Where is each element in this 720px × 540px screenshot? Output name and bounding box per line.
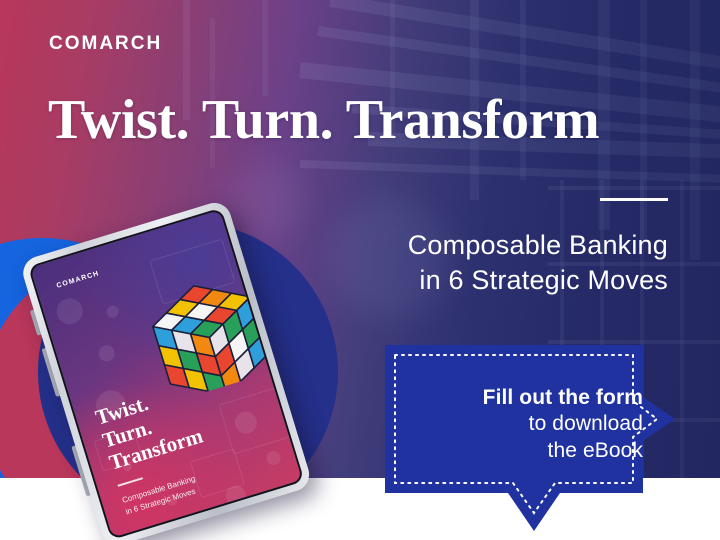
- hero-subtitle-line-2: in 6 Strategic Moves: [268, 263, 668, 298]
- cta-line-2: to download: [413, 411, 643, 437]
- cta-line-1: Fill out the form: [413, 385, 643, 411]
- marketing-banner: COMARCH Twist. Turn. Transform Composabl…: [0, 0, 720, 540]
- tablet-body: COMARCH: [19, 199, 313, 540]
- cta-line-3: the eBook: [413, 438, 643, 464]
- hero-subtitle: Composable Banking in 6 Strategic Moves: [268, 228, 668, 297]
- cta-text-block: Fill out the form to download the eBook: [413, 385, 643, 464]
- tablet-screen: COMARCH: [28, 207, 305, 540]
- comarch-logo: COMARCH: [49, 34, 162, 53]
- hero-subtitle-line-1: Composable Banking: [268, 228, 668, 263]
- cta-speech-bubble[interactable]: Fill out the form to download the eBook: [385, 345, 675, 531]
- page-title: Twist. Turn. Transform: [48, 92, 599, 149]
- divider-rule: [600, 198, 668, 201]
